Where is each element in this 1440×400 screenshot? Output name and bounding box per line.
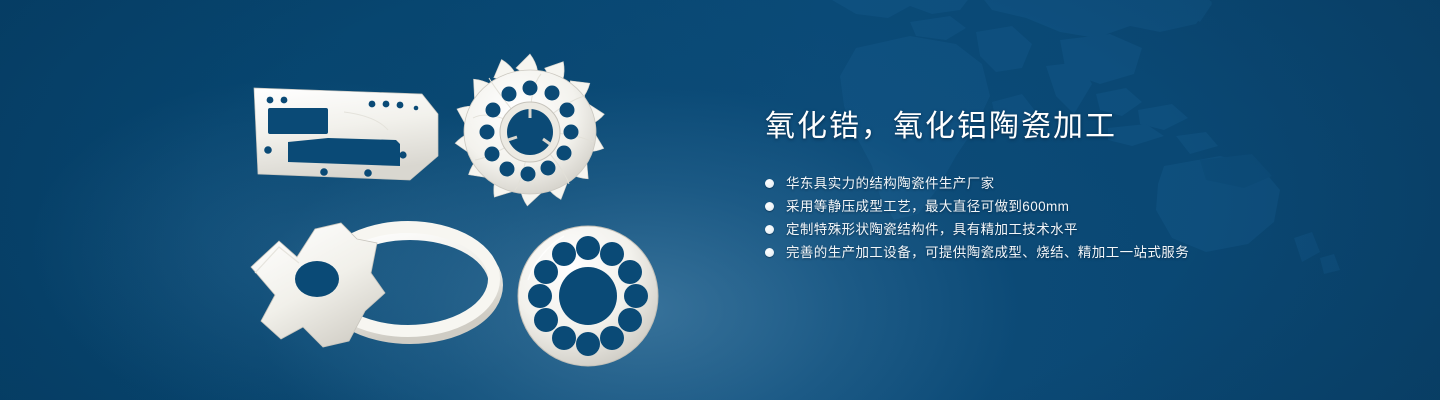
ceramic-impeller-disc [445, 48, 615, 216]
feature-text: 定制特殊形状陶瓷结构件，具有精加工技术水平 [786, 222, 1078, 238]
feature-text: 华东具实力的结构陶瓷件生产厂家 [786, 176, 995, 192]
bullet-dot-icon [765, 179, 774, 188]
feature-text: 完善的生产加工设备，可提供陶瓷成型、烧结、精加工一站式服务 [786, 245, 1189, 261]
feature-list: 华东具实力的结构陶瓷件生产厂家 采用等静压成型工艺，最大直径可做到600mm 定… [765, 176, 1405, 261]
list-item: 采用等静压成型工艺，最大直径可做到600mm [765, 199, 1405, 215]
ceramic-cross-plate-and-rings [245, 215, 505, 360]
list-item: 完善的生产加工设备，可提供陶瓷成型、烧结、精加工一站式服务 [765, 245, 1405, 261]
banner-copy: 氧化锆，氧化铝陶瓷加工 华东具实力的结构陶瓷件生产厂家 采用等静压成型工艺，最大… [765, 108, 1405, 268]
list-item: 定制特殊形状陶瓷结构件，具有精加工技术水平 [765, 222, 1405, 238]
bullet-dot-icon [765, 202, 774, 211]
bullet-dot-icon [765, 248, 774, 257]
list-item: 华东具实力的结构陶瓷件生产厂家 [765, 176, 1405, 192]
ceramic-machined-plate [248, 72, 444, 184]
ceramic-perforated-ring-disc [508, 218, 668, 373]
bullet-dot-icon [765, 225, 774, 234]
product-banner: 氧化锆，氧化铝陶瓷加工 华东具实力的结构陶瓷件生产厂家 采用等静压成型工艺，最大… [0, 0, 1440, 400]
banner-title: 氧化锆，氧化铝陶瓷加工 [765, 108, 1405, 146]
feature-text: 采用等静压成型工艺，最大直径可做到600mm [786, 199, 1069, 215]
product-photo-group [0, 0, 740, 400]
